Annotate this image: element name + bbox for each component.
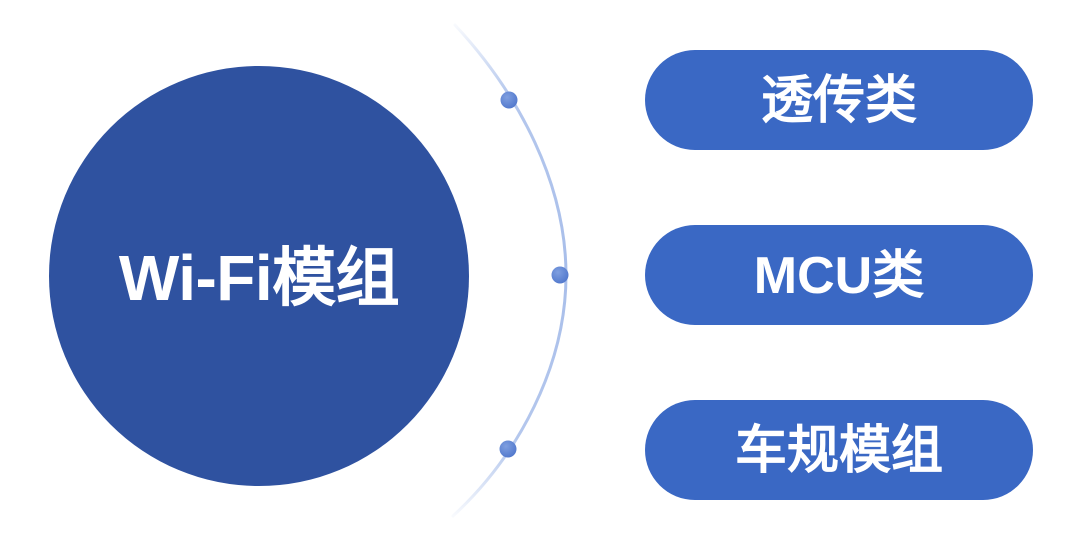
- connector-node-2: [552, 267, 569, 284]
- category-pill-automotive[interactable]: 车规模组: [645, 400, 1033, 500]
- category-pill-label: MCU类: [754, 250, 924, 302]
- hub-circle[interactable]: Wi-Fi模组: [49, 66, 469, 486]
- connector-node-3: [500, 441, 517, 458]
- connector-node-1: [501, 92, 518, 109]
- connector-arc-path: [453, 25, 566, 516]
- wifi-module-diagram: Wi-Fi模组 透传类 MCU类 车规模组: [0, 0, 1080, 542]
- category-pill-passthrough[interactable]: 透传类: [645, 50, 1033, 150]
- hub-label: Wi-Fi模组: [119, 246, 399, 310]
- category-pill-mcu[interactable]: MCU类: [645, 225, 1033, 325]
- category-pill-label: 车规模组: [735, 425, 943, 477]
- category-pill-label: 透传类: [761, 75, 917, 127]
